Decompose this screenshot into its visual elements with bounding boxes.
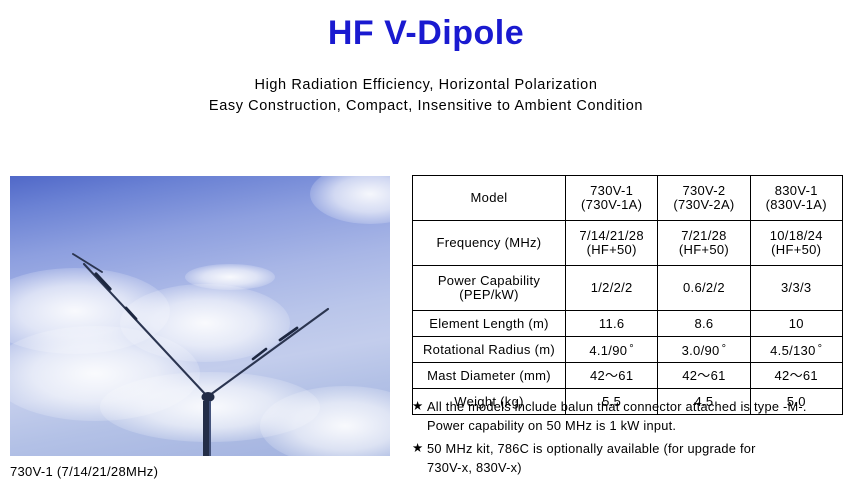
cell-subvalue: (HF+50) bbox=[568, 243, 655, 257]
antenna-center-hub bbox=[202, 392, 215, 402]
header-sublabel: (730V-1A) bbox=[568, 198, 655, 212]
antenna-left-element bbox=[84, 264, 206, 395]
cell-value: 7/21/28 bbox=[660, 229, 747, 243]
subtitle-line-2: Easy Construction, Compact, Insensitive … bbox=[0, 96, 852, 117]
cell-value: 3/3/3 bbox=[753, 281, 840, 295]
table-header-830v-1: 830V-1 (830V-1A) bbox=[750, 176, 842, 221]
cell-rotational-radius-730v-2: 3.0/90° bbox=[658, 337, 750, 363]
cell-mast-diameter-730v-1: 42〜61 bbox=[566, 363, 658, 389]
cell-mast-diameter-830v-1: 42〜61 bbox=[750, 363, 842, 389]
cell-power-730v-1: 1/2/2/2 bbox=[566, 266, 658, 311]
product-photo-figure bbox=[10, 176, 390, 456]
antenna-right-element bbox=[210, 309, 328, 395]
antenna-left-trap-1 bbox=[96, 274, 110, 289]
cell-rotational-radius-830v-1: 4.5/130° bbox=[750, 337, 842, 363]
cell-value: 0.6/2/2 bbox=[660, 281, 747, 295]
cell-value: 4.1/90 bbox=[589, 343, 627, 358]
cell-subvalue: (HF+50) bbox=[753, 243, 840, 257]
cell-value: 10/18/24 bbox=[753, 229, 840, 243]
header-label: 730V-2 bbox=[660, 184, 747, 198]
cell-value: 8.6 bbox=[660, 317, 747, 331]
cell-rotational-radius-730v-1: 4.1/90° bbox=[566, 337, 658, 363]
table-header-730v-1: 730V-1 (730V-1A) bbox=[566, 176, 658, 221]
header-sublabel: (830V-1A) bbox=[753, 198, 840, 212]
cell-frequency-730v-1: 7/14/21/28 (HF+50) bbox=[566, 221, 658, 266]
star-icon: ★ bbox=[412, 439, 427, 458]
cell-frequency-830v-1: 10/18/24 (HF+50) bbox=[750, 221, 842, 266]
header-label: 830V-1 bbox=[753, 184, 840, 198]
header-label: 730V-1 bbox=[568, 184, 655, 198]
footnote-item: ★ 50 MHz kit, 786C is optionally availab… bbox=[412, 439, 837, 477]
specifications-table: Model 730V-1 (730V-1A) 730V-2 (730V-2A) … bbox=[412, 175, 843, 415]
antenna-left-tip-crossbar bbox=[73, 254, 102, 272]
footnote-body: All the models include balun that connec… bbox=[427, 397, 837, 435]
degree-symbol: ° bbox=[627, 343, 634, 355]
degree-symbol: ° bbox=[816, 343, 823, 355]
footnote-line: 730V-x, 830V-x) bbox=[427, 458, 837, 477]
cell-value: 1/2/2/2 bbox=[568, 281, 655, 295]
table-row: Mast Diameter (mm) 42〜61 42〜61 42〜61 bbox=[413, 363, 843, 389]
row-label-rotational-radius: Rotational Radius (m) bbox=[413, 337, 566, 363]
cell-mast-diameter-730v-2: 42〜61 bbox=[658, 363, 750, 389]
cell-element-length-730v-2: 8.6 bbox=[658, 311, 750, 337]
row-sublabel: (PEP/kW) bbox=[415, 288, 563, 302]
row-label: Rotational Radius (m) bbox=[415, 343, 563, 357]
row-label: Mast Diameter (mm) bbox=[415, 369, 563, 383]
row-label: Frequency (MHz) bbox=[415, 236, 563, 250]
header-sublabel: (730V-2A) bbox=[660, 198, 747, 212]
cell-value: 3.0/90 bbox=[682, 343, 720, 358]
photo-caption: 730V-1 (7/14/21/28MHz) bbox=[10, 464, 158, 479]
cell-frequency-730v-2: 7/21/28 (HF+50) bbox=[658, 221, 750, 266]
row-label: Element Length (m) bbox=[415, 317, 563, 331]
subtitle-block: High Radiation Efficiency, Horizontal Po… bbox=[0, 75, 852, 117]
hf-v-dipole-antenna-photo bbox=[10, 176, 390, 456]
cell-value: 4.5/130 bbox=[770, 343, 815, 358]
cell-value: 7/14/21/28 bbox=[568, 229, 655, 243]
table-row: Frequency (MHz) 7/14/21/28 (HF+50) 7/21/… bbox=[413, 221, 843, 266]
table-row: Element Length (m) 11.6 8.6 10 bbox=[413, 311, 843, 337]
footnote-line: Power capability on 50 MHz is 1 kW input… bbox=[427, 416, 837, 435]
cell-value: 42〜61 bbox=[753, 369, 840, 383]
row-label: Power Capability bbox=[415, 274, 563, 288]
star-icon: ★ bbox=[412, 397, 427, 416]
table-header-model: Model bbox=[413, 176, 566, 221]
table-header-row: Model 730V-1 (730V-1A) 730V-2 (730V-2A) … bbox=[413, 176, 843, 221]
antenna-illustration bbox=[10, 176, 390, 456]
cell-value: 42〜61 bbox=[568, 369, 655, 383]
antenna-right-trap-2 bbox=[253, 349, 266, 359]
table-header-730v-2: 730V-2 (730V-2A) bbox=[658, 176, 750, 221]
cell-value: 42〜61 bbox=[660, 369, 747, 383]
degree-symbol: ° bbox=[720, 343, 727, 355]
cell-power-730v-2: 0.6/2/2 bbox=[658, 266, 750, 311]
cell-element-length-830v-1: 10 bbox=[750, 311, 842, 337]
cell-value: 11.6 bbox=[568, 317, 655, 331]
subtitle-line-1: High Radiation Efficiency, Horizontal Po… bbox=[0, 75, 852, 96]
footnotes: ★ All the models include balun that conn… bbox=[412, 397, 837, 481]
cell-value: 10 bbox=[753, 317, 840, 331]
antenna-mast-highlight bbox=[209, 401, 211, 456]
footnote-line: 50 MHz kit, 786C is optionally available… bbox=[427, 439, 837, 458]
cell-power-830v-1: 3/3/3 bbox=[750, 266, 842, 311]
table-row: Power Capability (PEP/kW) 1/2/2/2 0.6/2/… bbox=[413, 266, 843, 311]
row-label-mast-diameter: Mast Diameter (mm) bbox=[413, 363, 566, 389]
footnote-item: ★ All the models include balun that conn… bbox=[412, 397, 837, 435]
table-row: Rotational Radius (m) 4.1/90° 3.0/90° 4.… bbox=[413, 337, 843, 363]
cell-subvalue: (HF+50) bbox=[660, 243, 747, 257]
footnote-body: 50 MHz kit, 786C is optionally available… bbox=[427, 439, 837, 477]
page-title: HF V-Dipole bbox=[0, 14, 852, 53]
header-label: Model bbox=[415, 191, 563, 205]
antenna-left-trap-2 bbox=[126, 308, 136, 319]
footnote-line: All the models include balun that connec… bbox=[427, 397, 837, 416]
cell-element-length-730v-1: 11.6 bbox=[566, 311, 658, 337]
row-label-power-capability: Power Capability (PEP/kW) bbox=[413, 266, 566, 311]
row-label-frequency: Frequency (MHz) bbox=[413, 221, 566, 266]
row-label-element-length: Element Length (m) bbox=[413, 311, 566, 337]
